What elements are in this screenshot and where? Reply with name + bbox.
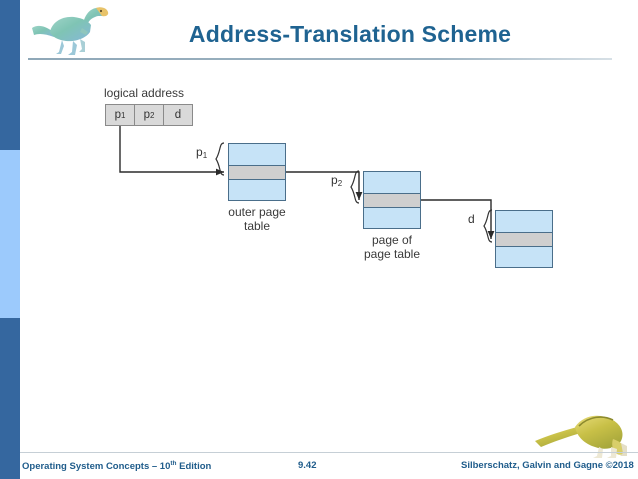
logical-address-box: p1 p2 d: [105, 104, 193, 126]
brace-label-p2: p2: [331, 173, 342, 188]
footer-copyright: Silberschatz, Galvin and Gagne ©2018: [461, 460, 634, 471]
outer-page-table-caption: outer page table: [217, 205, 297, 233]
outer-page-table-segment-top: [229, 144, 285, 165]
accent-segment-middle: [0, 150, 20, 318]
slide-number: 9.42: [298, 460, 317, 471]
page-of-page-table-segment-top: [364, 172, 420, 193]
memory-frame-entry-highlight: [496, 232, 552, 247]
footer-divider: [20, 452, 638, 453]
footer-edition-prefix: Operating System Concepts – 10: [22, 461, 170, 472]
brace-icon-p2: [349, 170, 361, 204]
brace-label-p2-sub: 2: [338, 179, 342, 188]
brace-icon-p1: [214, 142, 226, 176]
dinosaur-logo-icon: [28, 2, 112, 58]
accent-segment-top: [0, 0, 20, 150]
outer-page-table-segment-bottom: [229, 180, 285, 201]
page-of-page-table-box: [363, 171, 421, 229]
outer-page-table-box: [228, 143, 286, 201]
brace-label-p1-sub: 1: [203, 151, 207, 160]
page-title: Address-Translation Scheme: [120, 21, 580, 48]
memory-frame-box: [495, 210, 553, 268]
page-of-page-table-segment-bottom: [364, 208, 420, 229]
footer-edition-suffix: Edition: [177, 461, 212, 472]
memory-frame-segment-bottom: [496, 247, 552, 268]
brace-label-d-text: d: [468, 212, 475, 226]
sidebar-accent-bar: [0, 0, 20, 479]
cell-text-d: d: [175, 109, 181, 121]
brace-label-p2-text: p: [331, 173, 338, 187]
brace-label-p1-text: p: [196, 145, 203, 159]
cell-sub-p1: 1: [121, 111, 125, 120]
logical-address-cell-p1: p1: [106, 105, 135, 125]
brace-label-d: d: [468, 212, 475, 227]
title-divider: [28, 58, 612, 60]
logical-address-cell-d: d: [164, 105, 192, 125]
cell-sub-p2: 2: [150, 111, 154, 120]
accent-segment-bottom: [0, 318, 20, 479]
page-of-page-table-entry-highlight: [364, 193, 420, 208]
page-of-page-table-caption: page of page table: [352, 233, 432, 261]
footer-edition-text: Operating System Concepts – 10th Edition: [22, 460, 211, 472]
brace-label-p1: p1: [196, 145, 207, 160]
brace-icon-d: [482, 209, 494, 243]
logical-address-label: logical address: [104, 86, 184, 100]
logical-address-cell-p2: p2: [135, 105, 164, 125]
memory-frame-segment-top: [496, 211, 552, 232]
outer-page-table-entry-highlight: [229, 165, 285, 180]
